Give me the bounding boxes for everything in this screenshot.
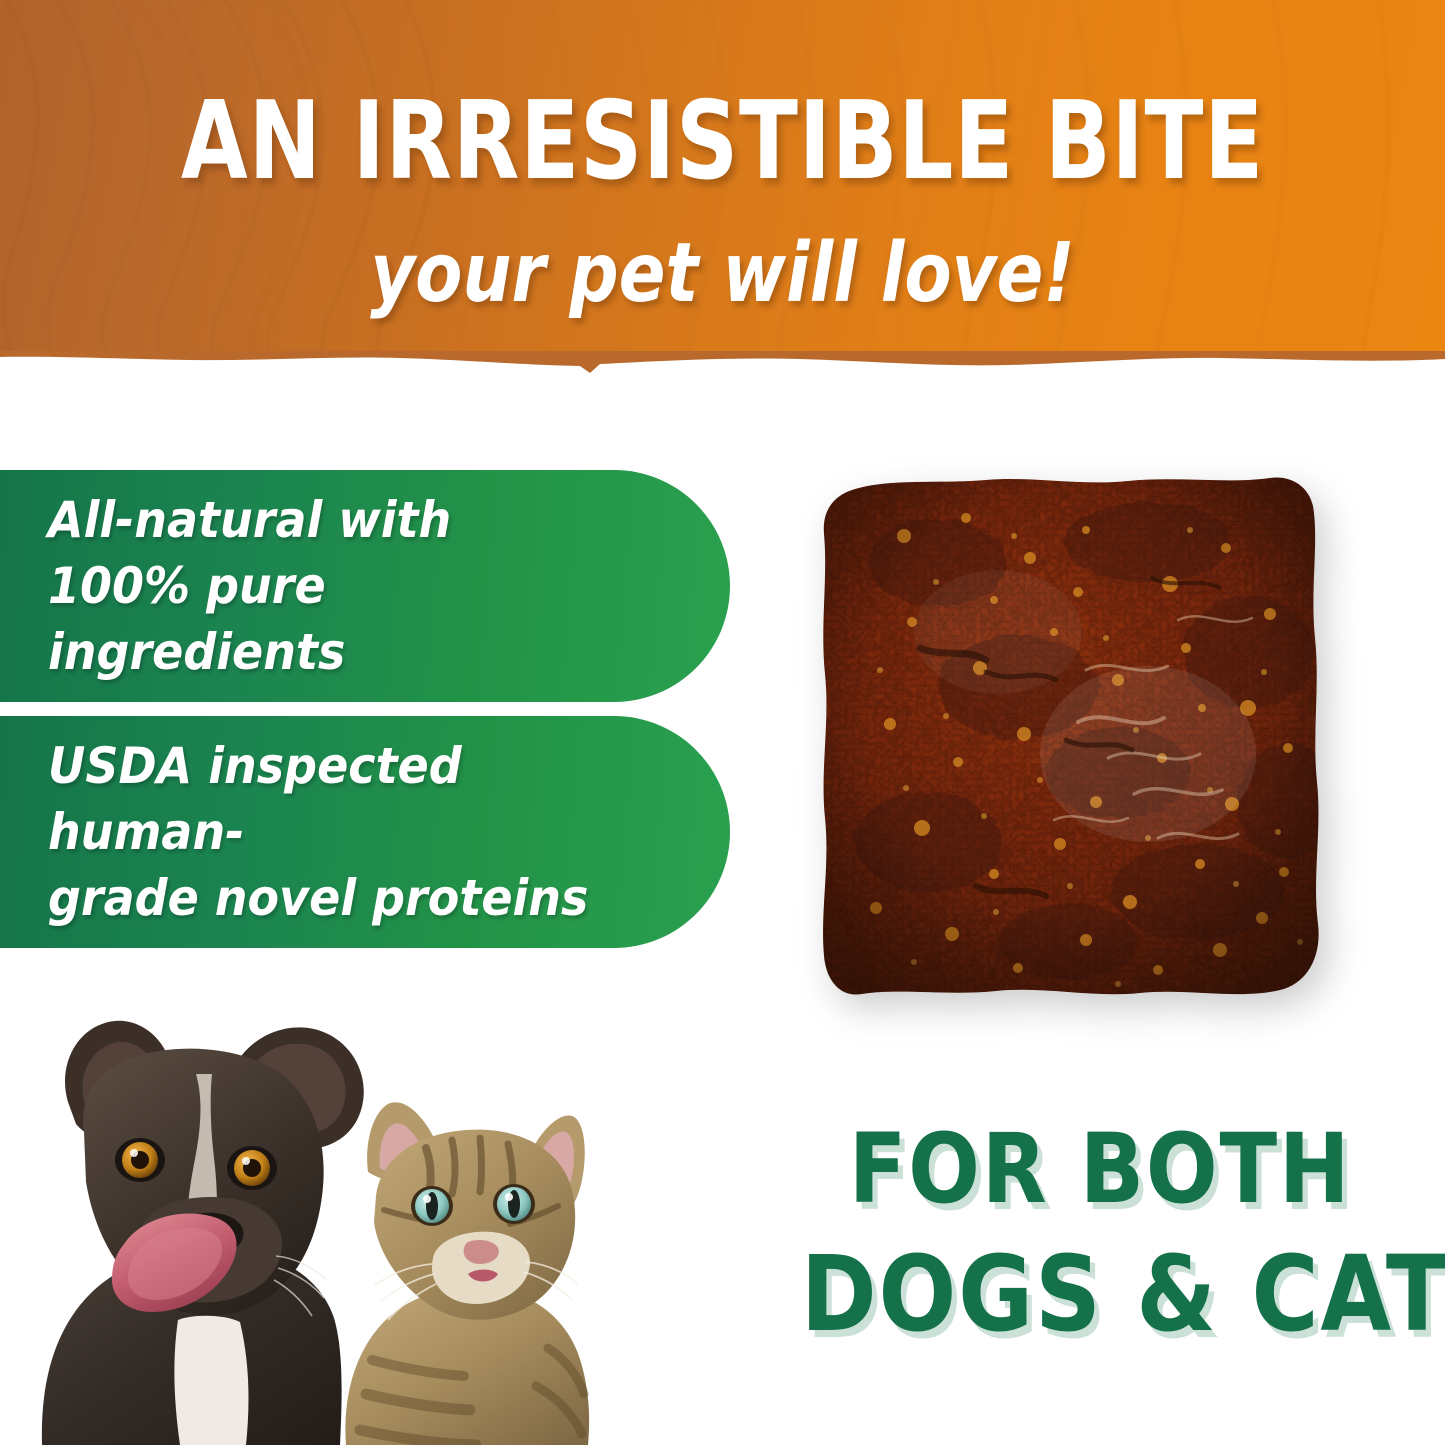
dog-and-cat-illustration (28, 982, 596, 1445)
cta-line-1: FOR BOTH (801, 1118, 1399, 1222)
feature-badge-all-natural: All-natural with 100% pure ingredients (0, 470, 730, 702)
feature-badge-label: All-natural with 100% pure ingredients (48, 487, 620, 685)
page-title: AN IRRESISTIBLE BITE (145, 88, 1301, 196)
pets-photo-dog-and-cat (28, 982, 596, 1445)
header-banner: AN IRRESISTIBLE BITE your pet will love! (0, 0, 1445, 383)
feature-badge-label: USDA inspected human- grade novel protei… (48, 733, 620, 931)
product-image-jerky-treat (818, 472, 1342, 1002)
dog-figure (42, 1021, 364, 1445)
cta-line-2: DOGS & CATS! (801, 1238, 1399, 1350)
header-torn-edge (0, 343, 1445, 383)
feature-badge-usda: USDA inspected human- grade novel protei… (0, 716, 730, 948)
page-subtitle: your pet will love! (116, 233, 1330, 315)
jerky-treat-illustration (818, 472, 1342, 1002)
cta-for-both-dogs-and-cats: FOR BOTH DOGS & CATS! (760, 1118, 1440, 1350)
product-marketing-image: AN IRRESISTIBLE BITE your pet will love!… (0, 0, 1445, 1445)
cat-figure (345, 1102, 589, 1445)
